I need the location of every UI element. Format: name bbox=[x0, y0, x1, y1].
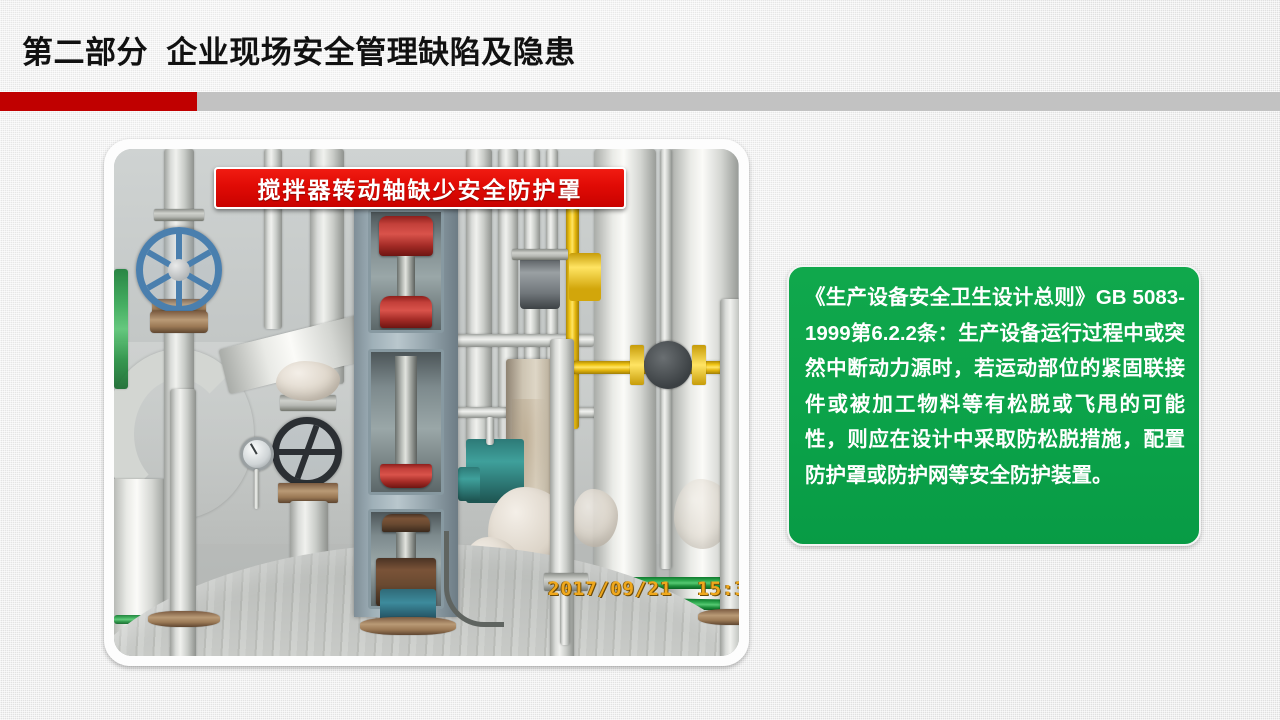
agitator-coupling-top bbox=[379, 216, 433, 256]
column-fg-right-base bbox=[698, 609, 739, 625]
wheel-spoke bbox=[279, 449, 335, 455]
header-rule-red bbox=[0, 92, 197, 111]
valve-handwheel-blue bbox=[136, 227, 222, 313]
control-valve-2 bbox=[569, 253, 601, 301]
valve-flange-yellow-a bbox=[630, 345, 644, 385]
agitator-shaft-lower bbox=[396, 532, 416, 558]
agitator-support-column bbox=[354, 197, 458, 617]
valve-body-left bbox=[150, 311, 208, 333]
wheel-hub bbox=[168, 259, 190, 281]
column-fg-left-base bbox=[148, 611, 220, 627]
photo-caption-text: 搅拌器转动轴缺少安全防护罩 bbox=[258, 171, 583, 205]
pump-motor-teal-2 bbox=[458, 467, 480, 501]
agitator-window-middle bbox=[368, 349, 444, 495]
valve-flange-yellow-b bbox=[692, 345, 706, 385]
agitator-shaft-top bbox=[397, 256, 415, 300]
page-title: 第二部分 企业现场安全管理缺陷及隐患 bbox=[22, 27, 576, 72]
valve-body-mid-lower bbox=[278, 483, 338, 503]
agitator-bearing-housing bbox=[382, 514, 430, 532]
pump-stem bbox=[486, 417, 494, 445]
slide-canvas: 第二部分 企业现场安全管理缺陷及隐患 bbox=[0, 0, 1280, 720]
agitator-coupling-upper-mid bbox=[380, 296, 432, 328]
agitator-coupling-mid-bottom bbox=[380, 464, 432, 488]
control-valve-1 bbox=[520, 257, 560, 309]
gauge-stem bbox=[254, 469, 259, 509]
regulation-note-text: 《生产设备安全卫生设计总则》GB 5083-1999第6.2.2条：生产设备运行… bbox=[805, 280, 1185, 493]
agitator-window-top bbox=[368, 209, 444, 333]
pipe-green-left bbox=[114, 269, 128, 389]
valve-actuator-yellow bbox=[644, 341, 692, 389]
valve-handwheel-dark bbox=[272, 417, 342, 487]
control-valve-1-flange bbox=[512, 249, 568, 260]
photo-frame: 搅拌器转动轴缺少安全防护罩 2017/09/21 15:36 bbox=[104, 139, 749, 666]
column-foreground-right-2 bbox=[720, 299, 739, 656]
column-left-flange-top bbox=[154, 209, 204, 221]
vessel-right-tall bbox=[594, 149, 656, 619]
photo-caption-banner: 搅拌器转动轴缺少安全防护罩 bbox=[214, 167, 626, 209]
regulation-note-box: 《生产设备安全卫生设计总则》GB 5083-1999第6.2.2条：生产设备运行… bbox=[787, 265, 1201, 546]
photo-timestamp: 2017/09/21 15:36 bbox=[548, 578, 739, 600]
site-photo: 搅拌器转动轴缺少安全防护罩 2017/09/21 15:36 bbox=[114, 149, 739, 656]
pressure-gauge-icon bbox=[240, 437, 274, 471]
agitator-shaft-middle bbox=[395, 356, 417, 472]
agitator-nozzle-flange bbox=[360, 617, 456, 635]
agitator-hose bbox=[444, 531, 504, 627]
